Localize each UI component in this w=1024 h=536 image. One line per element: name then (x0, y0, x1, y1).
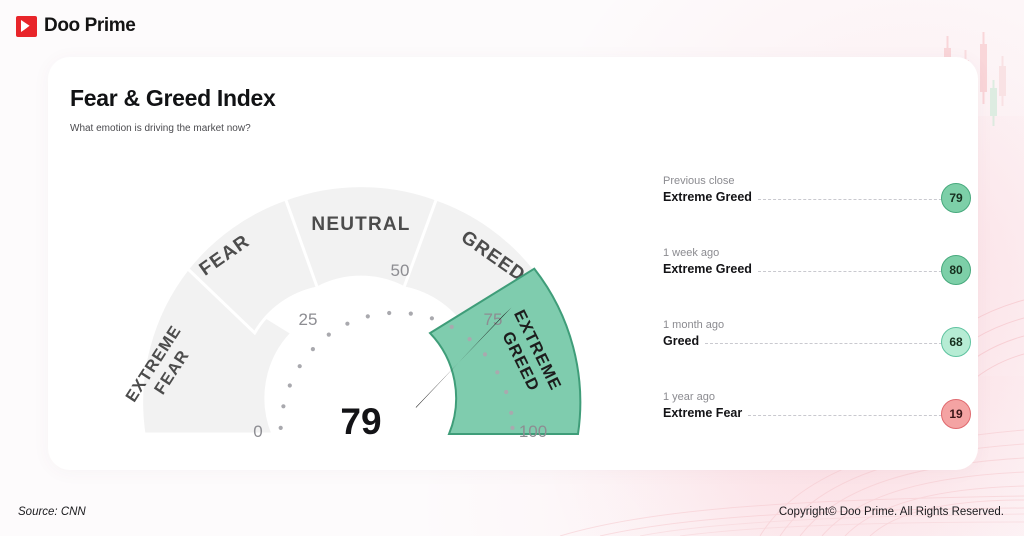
history-sentiment: Extreme Greed (663, 190, 752, 204)
gauge-segment-label: NEUTRAL (311, 214, 410, 235)
gauge-current-value: 79 (340, 401, 381, 442)
list-item[interactable]: 1 month ago Greed 68 (663, 319, 963, 391)
copyright-note: Copyright© Doo Prime. All Rights Reserve… (779, 506, 1004, 518)
page-title: Fear & Greed Index (70, 85, 276, 112)
history-period: 1 year ago (663, 391, 963, 403)
gauge-tick-100: 100 (519, 422, 547, 441)
source-note: Source: CNN (18, 506, 86, 518)
history-period: Previous close (663, 175, 963, 187)
leader-line (758, 271, 957, 272)
status-badge: 68 (941, 327, 971, 357)
gauge-svg: EXTREME FEAR FEAR NEUTRAL GREE (56, 137, 666, 457)
status-badge: 80 (941, 255, 971, 285)
history-list: Previous close Extreme Greed 79 1 week a… (663, 175, 963, 463)
leader-line (748, 415, 957, 416)
history-sentiment: Extreme Fear (663, 406, 742, 420)
list-item[interactable]: 1 week ago Extreme Greed 80 (663, 247, 963, 319)
brand-logo: Doo Prime (16, 15, 135, 37)
leader-line (705, 343, 957, 344)
history-period: 1 week ago (663, 247, 963, 259)
gauge-tick-25: 25 (299, 310, 318, 329)
status-badge: 79 (941, 183, 971, 213)
status-badge: 19 (941, 399, 971, 429)
history-sentiment: Extreme Greed (663, 262, 752, 276)
gauge-tick-0: 0 (253, 422, 262, 441)
history-sentiment: Greed (663, 334, 699, 348)
list-item[interactable]: Previous close Extreme Greed 79 (663, 175, 963, 247)
leader-line (758, 199, 957, 200)
infographic-canvas: Doo Prime Fear & Greed Index What emotio… (0, 0, 1024, 536)
page-subtitle: What emotion is driving the market now? (70, 123, 251, 134)
fear-greed-gauge: EXTREME FEAR FEAR NEUTRAL GREE (56, 137, 666, 457)
gauge-tick-50: 50 (391, 261, 410, 280)
history-period: 1 month ago (663, 319, 963, 331)
list-item[interactable]: 1 year ago Extreme Fear 19 (663, 391, 963, 463)
brand-name: Doo Prime (44, 15, 135, 37)
doo-prime-logo-icon (16, 16, 37, 37)
content-card: Fear & Greed Index What emotion is drivi… (48, 57, 978, 470)
